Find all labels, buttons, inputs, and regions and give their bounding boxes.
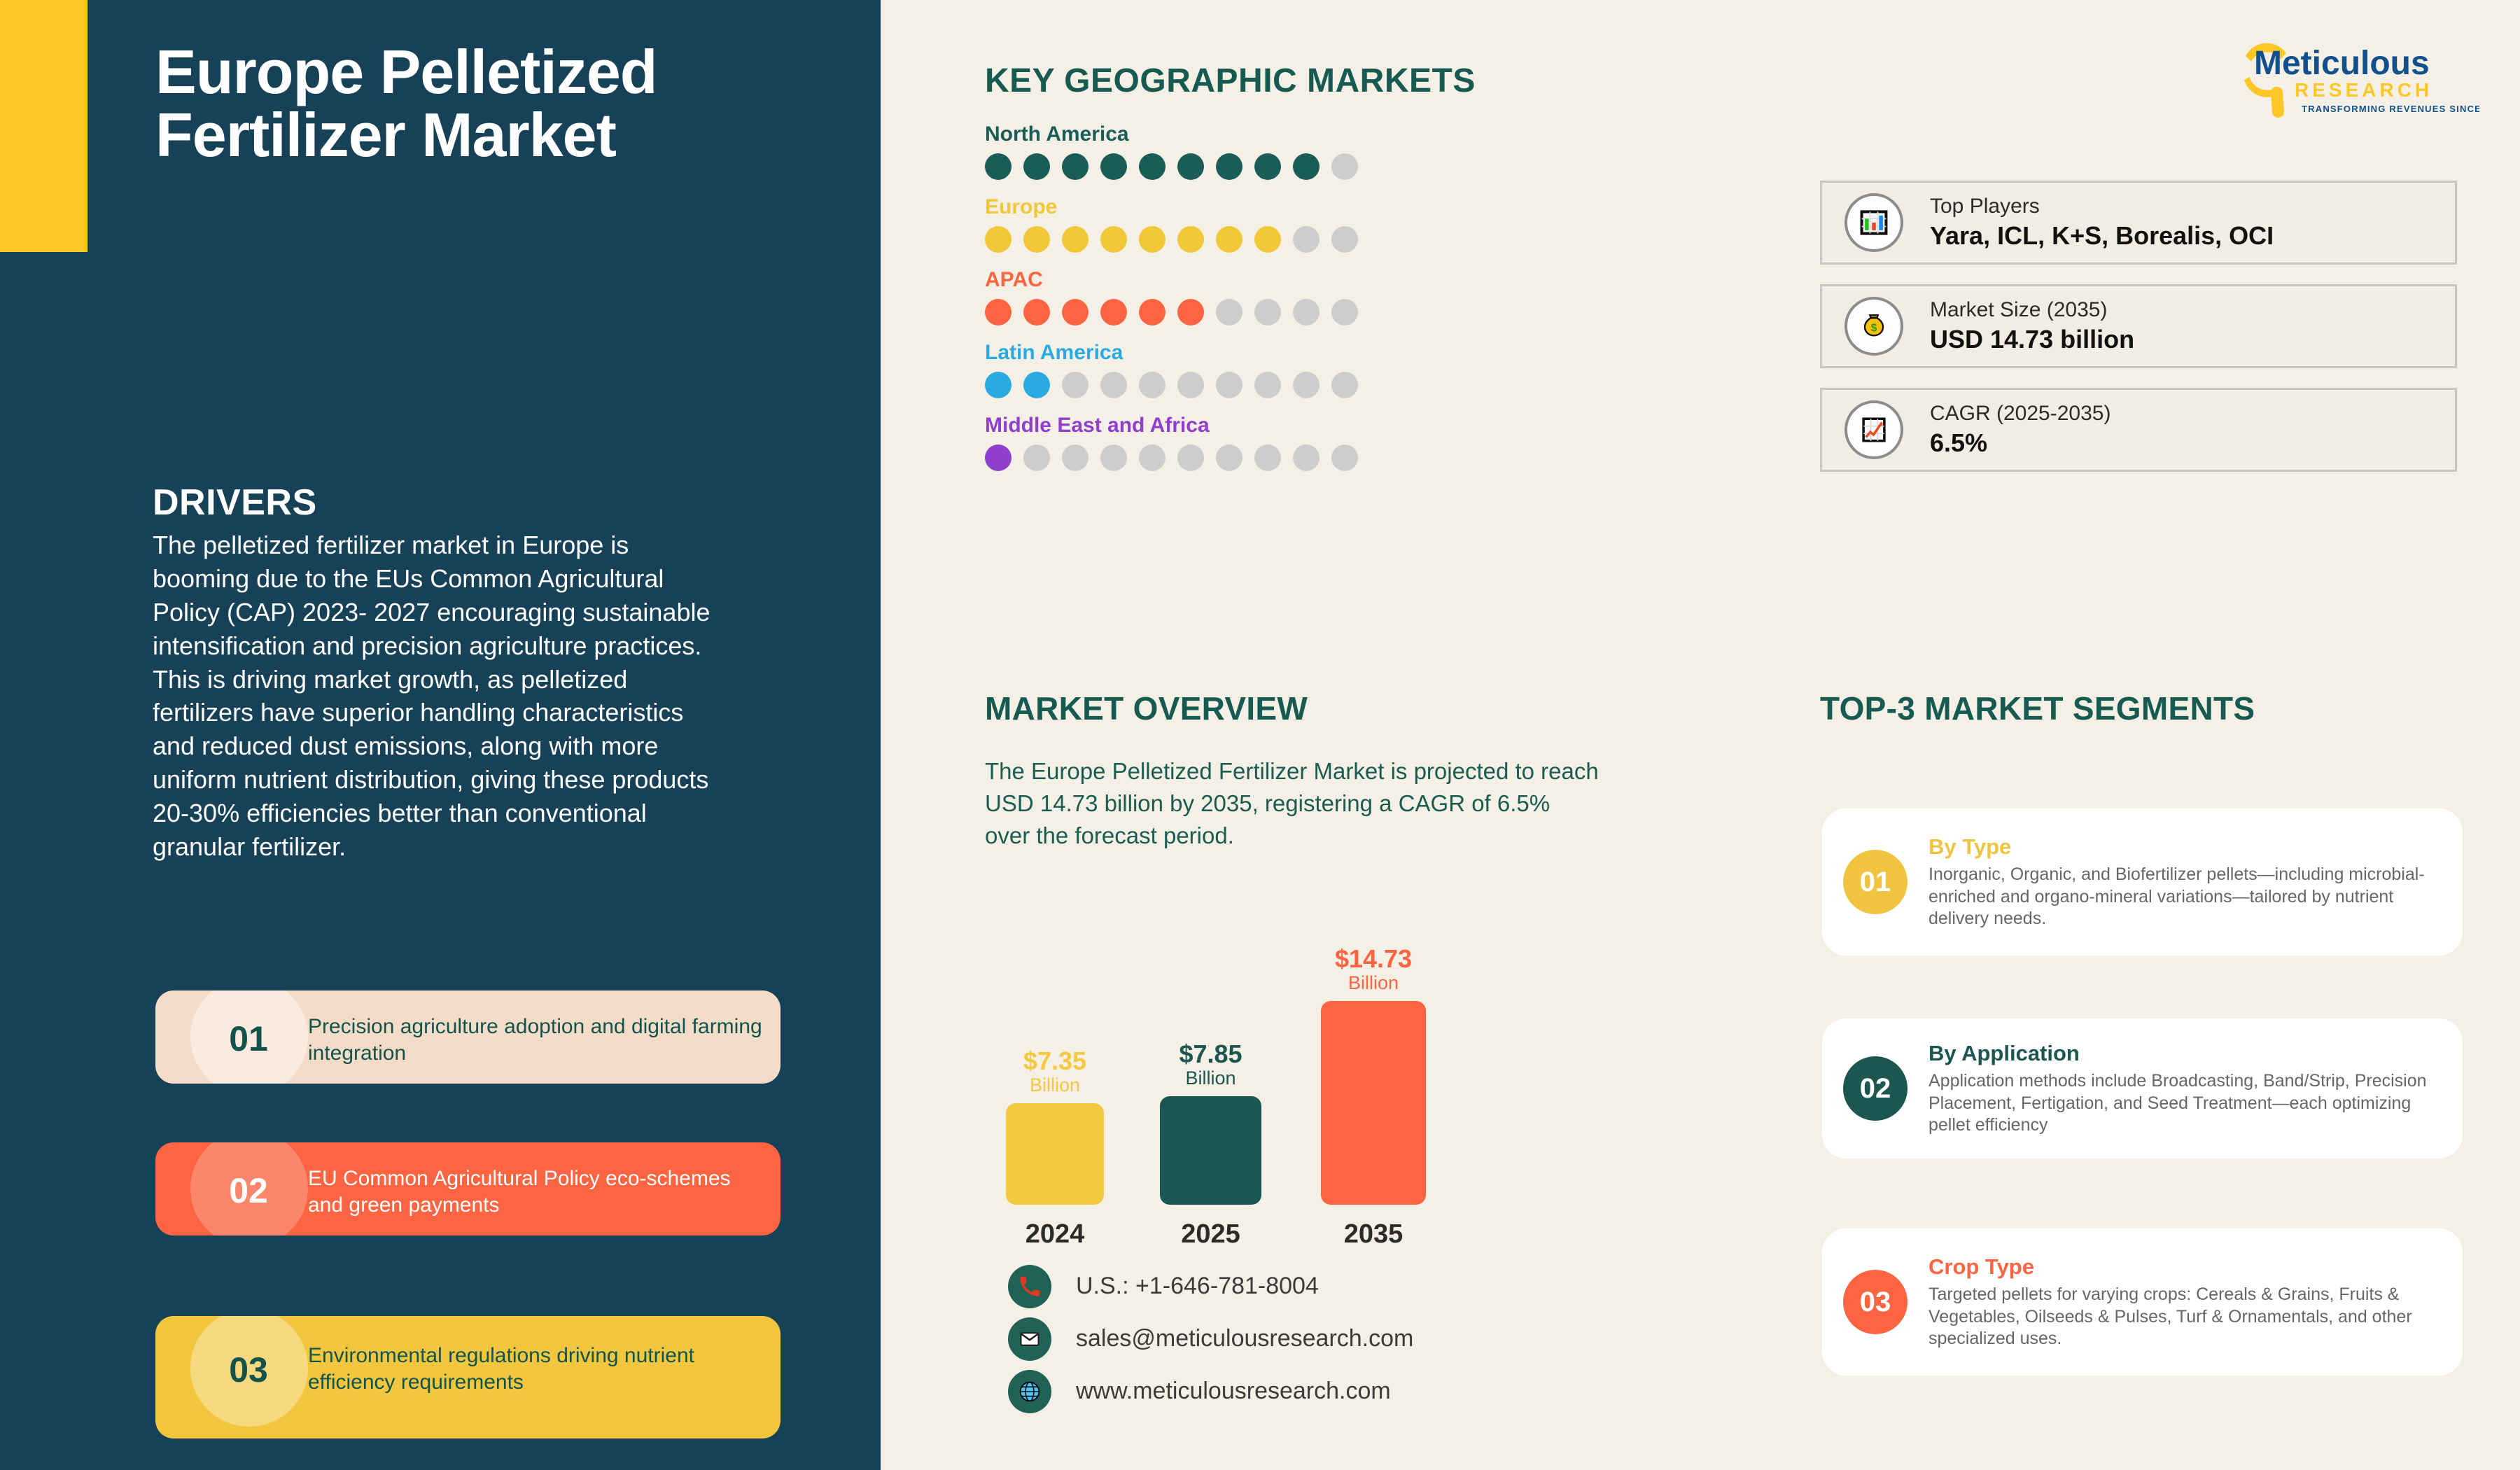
driver-card-1[interactable]: 01 Precision agriculture adoption and di… — [155, 990, 780, 1084]
driver-number: 02 — [203, 1170, 294, 1211]
segment-description: Targeted pellets for varying crops: Cere… — [1928, 1284, 2442, 1350]
svg-text:RESEARCH: RESEARCH — [2295, 79, 2432, 101]
key-geographic-markets-section: KEY GEOGRAPHIC MARKETS North AmericaEuro… — [985, 62, 1615, 486]
geo-dot-empty — [1139, 444, 1165, 471]
drivers-heading: DRIVERS — [153, 482, 317, 524]
segment-number-badge: 03 — [1843, 1270, 1907, 1334]
geo-dot-empty — [1331, 299, 1358, 325]
email-icon — [1008, 1317, 1051, 1361]
bar-rect — [1321, 1001, 1426, 1205]
geo-dot-empty — [1293, 372, 1319, 398]
geo-dot-filled — [1100, 153, 1127, 180]
segment-description: Application methods include Broadcasting… — [1928, 1070, 2442, 1137]
geo-dot-empty — [1331, 226, 1358, 253]
segment-title: By Application — [1928, 1040, 2442, 1066]
geo-dot-empty — [1331, 153, 1358, 180]
globe-icon — [1008, 1370, 1051, 1413]
segments-section-title: TOP-3 MARKET SEGMENTS — [1820, 689, 2464, 727]
bar-value-label: $14.73 — [1321, 946, 1426, 972]
bar-category-label: 2035 — [1321, 1219, 1426, 1249]
bar-chart-icon — [1844, 193, 1903, 252]
geo-dot-filled — [1023, 299, 1050, 325]
segment-card[interactable]: 01By TypeInorganic, Organic, and Biofert… — [1822, 808, 2463, 955]
left-panel: Europe Pelletized Fertilizer Market DRIV… — [0, 0, 881, 1470]
svg-text:$: $ — [1871, 323, 1877, 335]
contact-row[interactable]: www.meticulousresearch.com — [1008, 1365, 1413, 1417]
geo-dot-filled — [1177, 299, 1204, 325]
contact-row[interactable]: sales@meticulousresearch.com — [1008, 1312, 1413, 1365]
geo-dot-empty — [1216, 444, 1242, 471]
geo-dot-scale — [985, 299, 1615, 325]
stat-card[interactable]: CAGR (2025-2035)6.5% — [1820, 388, 2457, 472]
geo-dot-filled — [1293, 153, 1319, 180]
stat-card-body: CAGR (2025-2035)6.5% — [1930, 401, 2110, 458]
svg-text:TRANSFORMING REVENUES SINCE: TRANSFORMING REVENUES SINCE 2010 — [2302, 104, 2479, 114]
bar-unit-label: Billion — [1006, 1074, 1104, 1096]
geo-region-label: Latin America — [985, 341, 1615, 365]
geo-dot-empty — [1293, 444, 1319, 471]
driver-number: 01 — [203, 1018, 294, 1059]
bar-rect — [1006, 1103, 1104, 1205]
stat-card-body: Market Size (2035)USD 14.73 billion — [1930, 297, 2134, 355]
driver-number: 03 — [203, 1350, 294, 1390]
geo-dot-empty — [1293, 226, 1319, 253]
geo-dot-empty — [1293, 299, 1319, 325]
stat-card[interactable]: Top PlayersYara, ICL, K+S, Borealis, OCI — [1820, 181, 2457, 265]
geo-dot-empty — [1254, 444, 1281, 471]
segment-title: By Type — [1928, 834, 2442, 860]
stat-card-label: Market Size (2035) — [1930, 297, 2134, 323]
geo-dot-filled — [985, 226, 1011, 253]
bar-value-label: $7.35 — [1006, 1048, 1104, 1074]
geo-row: Latin America — [985, 341, 1615, 398]
segment-card[interactable]: 03Crop TypeTargeted pellets for varying … — [1822, 1228, 2463, 1375]
segment-card-body: Crop TypeTargeted pellets for varying cr… — [1928, 1254, 2442, 1350]
stat-card[interactable]: $Market Size (2035)USD 14.73 billion — [1820, 284, 2457, 368]
geo-dot-filled — [1216, 226, 1242, 253]
geo-dot-filled — [1177, 153, 1204, 180]
contact-info-list: U.S.: +1-646-781-8004sales@meticulousres… — [1008, 1260, 1413, 1417]
money-bag-icon: $ — [1844, 297, 1903, 356]
stat-card-value: USD 14.73 billion — [1930, 323, 2134, 355]
bar-value-label: $7.85 — [1160, 1041, 1261, 1067]
geo-dot-filled — [1100, 226, 1127, 253]
geo-dot-empty — [1100, 444, 1127, 471]
bar-unit-label: Billion — [1321, 972, 1426, 994]
geo-dot-filled — [1139, 299, 1165, 325]
geo-dot-filled — [1254, 153, 1281, 180]
bar-unit-label: Billion — [1160, 1067, 1261, 1089]
geo-dot-filled — [1100, 299, 1127, 325]
contact-row[interactable]: U.S.: +1-646-781-8004 — [1008, 1260, 1413, 1312]
accent-bar — [0, 0, 87, 252]
phone-icon — [1008, 1265, 1051, 1308]
geo-region-label: Middle East and Africa — [985, 414, 1615, 437]
segment-card-body: By TypeInorganic, Organic, and Biofertil… — [1928, 834, 2442, 930]
geo-rows-container: North AmericaEuropeAPACLatin AmericaMidd… — [985, 122, 1615, 471]
overview-description: The Europe Pelletized Fertilizer Market … — [985, 755, 1601, 853]
geo-dot-scale — [985, 226, 1615, 253]
bar-group: $14.73Billion — [1321, 946, 1426, 1205]
bar-group: $7.85Billion — [1160, 1041, 1261, 1205]
segment-card[interactable]: 02By ApplicationApplication methods incl… — [1822, 1018, 2463, 1158]
geo-dot-filled — [1023, 153, 1050, 180]
geo-row: North America — [985, 122, 1615, 180]
segment-description: Inorganic, Organic, and Biofertilizer pe… — [1928, 864, 2442, 930]
trend-chart-icon — [1844, 400, 1903, 459]
geo-dot-filled — [1062, 153, 1088, 180]
geo-dot-filled — [1062, 299, 1088, 325]
geo-dot-scale — [985, 153, 1615, 180]
overview-section-title: MARKET OVERVIEW — [985, 689, 1615, 727]
geo-dot-filled — [1062, 226, 1088, 253]
driver-text: EU Common Agricultural Policy eco-scheme… — [308, 1165, 763, 1219]
key-stats-cards: Top PlayersYara, ICL, K+S, Borealis, OCI… — [1820, 181, 2457, 491]
geo-dot-filled — [1139, 226, 1165, 253]
geo-dot-empty — [1331, 444, 1358, 471]
geo-dot-empty — [1139, 372, 1165, 398]
geo-dot-filled — [1139, 153, 1165, 180]
stat-card-label: CAGR (2025-2035) — [1930, 401, 2110, 427]
geo-dot-empty — [1023, 444, 1050, 471]
geo-dot-empty — [1216, 299, 1242, 325]
bar-rect — [1160, 1096, 1261, 1205]
geo-dot-filled — [985, 372, 1011, 398]
driver-text: Environmental regulations driving nutrie… — [308, 1343, 763, 1396]
market-overview-section: MARKET OVERVIEW The Europe Pelletized Fe… — [985, 689, 1615, 853]
segment-number-badge: 01 — [1843, 850, 1907, 914]
contact-text: sales@meticulousresearch.com — [1076, 1325, 1413, 1352]
meticulous-research-logo: Meticulous RESEARCH TRANSFORMING REVENUE… — [2219, 36, 2479, 119]
bar-group: $7.35Billion — [1006, 1048, 1104, 1205]
stat-card-value: Yara, ICL, K+S, Borealis, OCI — [1930, 220, 2274, 251]
geo-dot-empty — [1177, 372, 1204, 398]
geo-dot-empty — [1100, 372, 1127, 398]
top-market-segments-section: TOP-3 MARKET SEGMENTS — [1820, 689, 2464, 727]
driver-text: Precision agriculture adoption and digit… — [308, 1014, 763, 1067]
geo-dot-empty — [1254, 299, 1281, 325]
contact-text: www.meticulousresearch.com — [1076, 1378, 1391, 1405]
geo-dot-filled — [985, 299, 1011, 325]
drivers-body: The pelletized fertilizer market in Euro… — [153, 528, 720, 864]
geo-dot-scale — [985, 444, 1615, 471]
geo-dot-filled — [1216, 153, 1242, 180]
segment-title: Crop Type — [1928, 1254, 2442, 1280]
geo-row: APAC — [985, 268, 1615, 325]
geo-section-title: KEY GEOGRAPHIC MARKETS — [985, 62, 1615, 100]
bar-category-label: 2024 — [1006, 1219, 1104, 1249]
geo-dot-empty — [1177, 444, 1204, 471]
contact-text: U.S.: +1-646-781-8004 — [1076, 1273, 1319, 1300]
geo-region-label: North America — [985, 122, 1615, 146]
geo-dot-empty — [1216, 372, 1242, 398]
driver-card-2[interactable]: 02 EU Common Agricultural Policy eco-sch… — [155, 1142, 780, 1235]
geo-dot-filled — [1023, 372, 1050, 398]
geo-dot-filled — [1177, 226, 1204, 253]
segment-card-body: By ApplicationApplication methods includ… — [1928, 1040, 2442, 1137]
geo-dot-filled — [1023, 226, 1050, 253]
geo-dot-filled — [1254, 226, 1281, 253]
geo-region-label: APAC — [985, 268, 1615, 292]
geo-dot-empty — [1062, 444, 1088, 471]
stat-card-body: Top PlayersYara, ICL, K+S, Borealis, OCI — [1930, 194, 2274, 251]
geo-row: Middle East and Africa — [985, 414, 1615, 471]
geo-dot-empty — [1254, 372, 1281, 398]
geo-dot-empty — [1331, 372, 1358, 398]
stat-card-value: 6.5% — [1930, 427, 2110, 458]
geo-row: Europe — [985, 195, 1615, 253]
driver-card-3[interactable]: 03 Environmental regulations driving nut… — [155, 1316, 780, 1438]
geo-dot-empty — [1062, 372, 1088, 398]
page-title: Europe Pelletized Fertilizer Market — [155, 41, 785, 167]
geo-dot-filled — [985, 153, 1011, 180]
market-size-bar-chart: $7.35Billion2024$7.85Billion2025$14.73Bi… — [985, 948, 1559, 1249]
geo-dot-scale — [985, 372, 1615, 398]
bar-category-label: 2025 — [1160, 1219, 1261, 1249]
stat-card-label: Top Players — [1930, 194, 2274, 220]
geo-region-label: Europe — [985, 195, 1615, 219]
geo-dot-filled — [985, 444, 1011, 471]
svg-text:Meticulous: Meticulous — [2254, 45, 2430, 82]
segment-number-badge: 02 — [1843, 1056, 1907, 1121]
